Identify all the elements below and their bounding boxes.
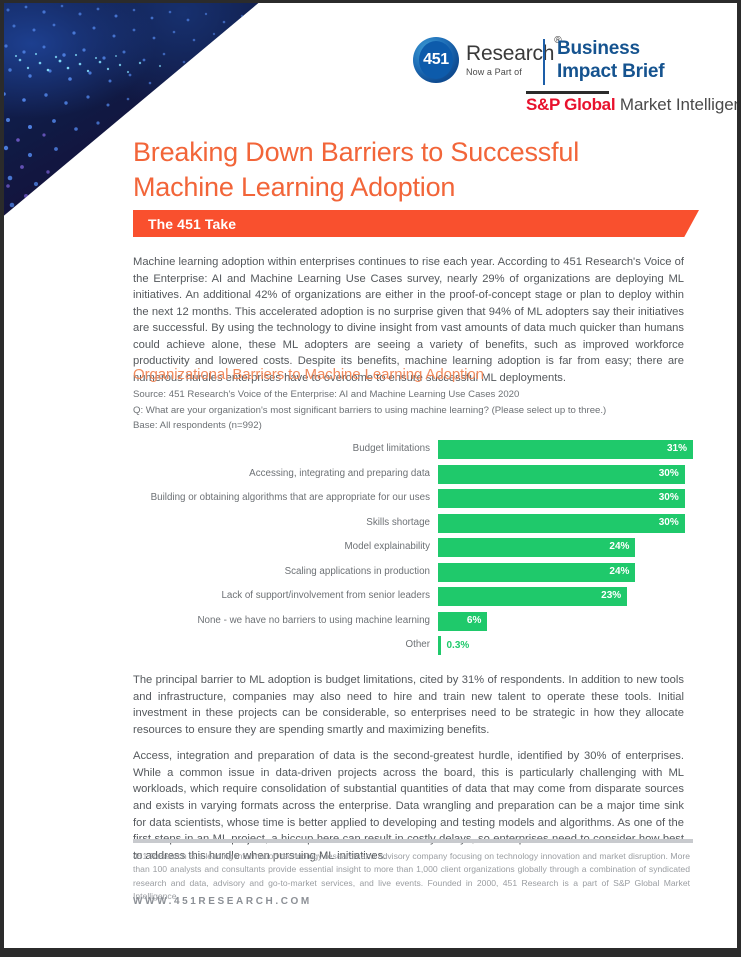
chart-bar — [438, 489, 685, 508]
chart-bar-row: Accessing, integrating and preparing dat… — [133, 464, 693, 489]
chart-value-label: 6% — [459, 615, 481, 626]
chart-bar — [438, 538, 635, 557]
the-451-take-label: The 451 Take — [148, 216, 236, 232]
product-name: Business Impact Brief — [557, 37, 664, 83]
chart-value-label: 30% — [657, 517, 679, 528]
chart-bar-track: 0.3% — [438, 636, 693, 655]
chart-bar — [438, 563, 635, 582]
chart-bar — [438, 514, 685, 533]
the-451-take-banner: The 451 Take — [133, 210, 699, 237]
analysis-paragraph-block: The principal barrier to ML adoption is … — [133, 672, 684, 874]
page-title: Breaking Down Barriers to Successful Mac… — [133, 135, 693, 204]
chart-value-label: 0.3% — [447, 640, 470, 651]
logo-vertical-divider — [543, 39, 545, 85]
chart-bar-track: 23% — [438, 587, 693, 606]
chart-category-label: Budget limitations — [140, 443, 430, 454]
barriers-bar-chart: Budget limitations31%Accessing, integrat… — [133, 439, 693, 653]
chart-bar-track: 30% — [438, 514, 693, 533]
chart-bar-row: Skills shortage30% — [133, 513, 693, 538]
chart-bar-row: Budget limitations31% — [133, 439, 693, 464]
footer-divider — [133, 839, 693, 843]
chart-category-label: Other — [140, 639, 430, 650]
logo-tagline: Now a Part of — [466, 68, 561, 77]
chart-bar — [438, 636, 441, 655]
chart-bar-row: Scaling applications in production24% — [133, 562, 693, 587]
analysis-paragraph-1: The principal barrier to ML adoption is … — [133, 672, 684, 738]
chart-bar — [438, 440, 693, 459]
chart-bar-track: 30% — [438, 465, 693, 484]
chart-bar-track: 6% — [438, 612, 693, 631]
chart-category-label: None - we have no barriers to using mach… — [140, 615, 430, 626]
chart-value-label: 31% — [665, 443, 687, 454]
chart-bar-row: Other0.3% — [133, 635, 693, 660]
product-name-line1: Business — [557, 37, 664, 60]
chart-bar-track: 24% — [438, 563, 693, 582]
chart-bar-row: Building or obtaining algorithms that ar… — [133, 488, 693, 513]
page-canvas: 451 Research® Now a Part of Business Imp… — [4, 3, 737, 948]
logo-wordmark: Research® Now a Part of — [466, 43, 561, 77]
chart-bar-row: None - we have no barriers to using mach… — [133, 611, 693, 636]
chart-category-label: Accessing, integrating and preparing dat… — [140, 468, 430, 479]
chart-bar — [438, 465, 685, 484]
chart-bar-row: Lack of support/involvement from senior … — [133, 586, 693, 611]
logo-primary-row: 451 Research® Now a Part of — [413, 37, 561, 83]
footer-website-url[interactable]: WWW.451RESEARCH.COM — [133, 896, 312, 907]
chart-question: Q: What are your organization's most sig… — [133, 403, 693, 419]
chart-title: Organizational Barriers to Machine Learn… — [133, 366, 484, 383]
brand-logo-lockup: 451 Research® Now a Part of Business Imp… — [413, 37, 713, 119]
parent-brand-row: S&P Global Market Intelligence — [526, 96, 741, 114]
chart-value-label: 24% — [607, 566, 629, 577]
analysis-paragraph-2: Access, integration and preparation of d… — [133, 748, 684, 864]
chart-bar-track: 30% — [438, 489, 693, 508]
451-circle-logo-icon: 451 — [413, 37, 459, 83]
page-title-line2: Machine Learning Adoption — [133, 170, 693, 205]
logo-number: 451 — [423, 52, 449, 68]
chart-bar-row: Model explainability24% — [133, 537, 693, 562]
document-page: 451 Research® Now a Part of Business Imp… — [0, 0, 741, 957]
parent-brand-name: S&P Global — [526, 95, 615, 114]
chart-value-label: 30% — [657, 492, 679, 503]
logo-inner-disc: 451 — [419, 41, 453, 79]
chart-value-label: 23% — [599, 590, 621, 601]
chart-source: Source: 451 Research's Voice of the Ente… — [133, 387, 693, 403]
chart-value-label: 30% — [657, 468, 679, 479]
parent-brand-unit: Market Intelligence — [615, 95, 741, 114]
chart-category-label: Model explainability — [140, 541, 430, 552]
product-name-line2: Impact Brief — [557, 60, 664, 83]
logo-research-word: Research® — [466, 43, 561, 64]
chart-metadata: Source: 451 Research's Voice of the Ente… — [133, 387, 693, 434]
page-title-line1: Breaking Down Barriers to Successful — [133, 135, 693, 170]
chart-bar-track: 31% — [438, 440, 693, 459]
chart-bar-track: 24% — [438, 538, 693, 557]
chart-value-label: 24% — [607, 541, 629, 552]
chart-category-label: Skills shortage — [140, 517, 430, 528]
chart-category-label: Building or obtaining algorithms that ar… — [140, 492, 430, 503]
chart-base: Base: All respondents (n=992) — [133, 418, 693, 434]
chart-category-label: Scaling applications in production — [140, 566, 430, 577]
chart-category-label: Lack of support/involvement from senior … — [140, 590, 430, 601]
logo-horizontal-rule — [526, 91, 609, 94]
